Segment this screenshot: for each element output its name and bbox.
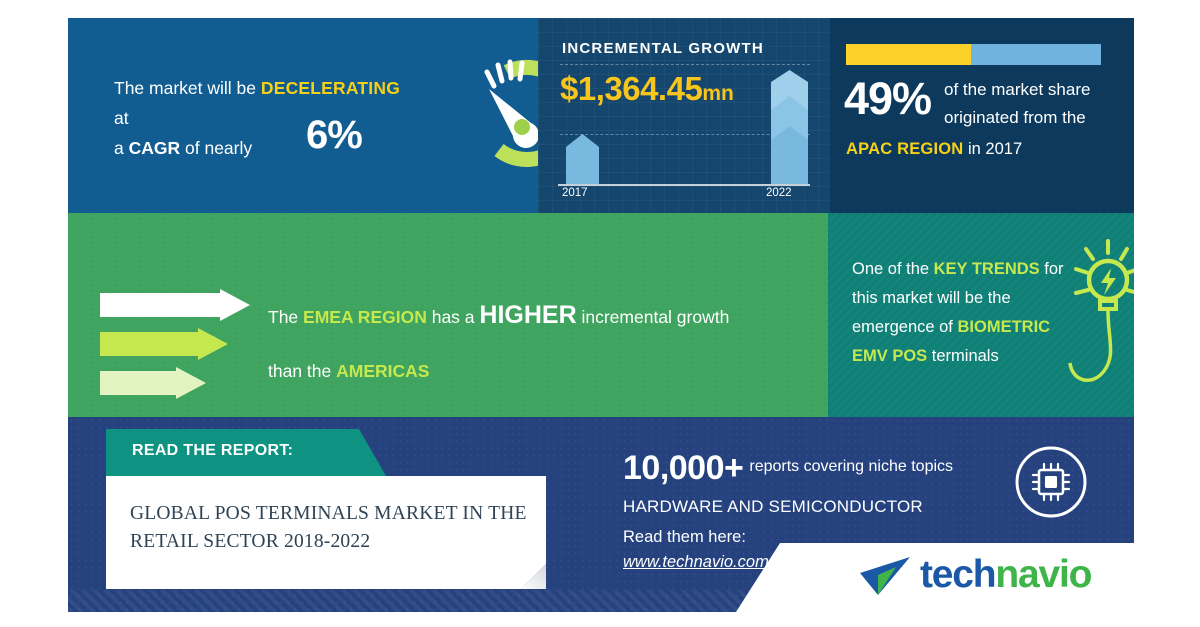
panel-cagr: The market will be DECELERATING at a CAG… [68, 18, 538, 213]
bar-2022 [771, 70, 808, 184]
emea-line2: than the AMERICAS [268, 361, 429, 382]
top-row: The market will be DECELERATING at a CAG… [68, 18, 1134, 213]
year-label-2017: 2017 [562, 187, 588, 199]
middle-row: The EMEA REGION has a HIGHER incremental… [68, 213, 1134, 417]
cagr-line2-a: a [114, 138, 129, 158]
reports-count-subtitle: reports covering niche topics [749, 458, 953, 475]
cagr-line2-c: of nearly [180, 138, 252, 158]
lightbulb-icon [1056, 235, 1134, 405]
emea-line1: The EMEA REGION has a HIGHER incremental… [268, 301, 729, 330]
cagr-statement: The market will be DECELERATING at a CAG… [114, 73, 414, 163]
technavio-url[interactable]: www.technavio.com [623, 553, 769, 572]
report-card-body: GLOBAL POS TERMINALS MARKET IN THE RETAI… [106, 476, 546, 589]
report-title: GLOBAL POS TERMINALS MARKET IN THE RETAI… [130, 500, 530, 556]
cagr-value: 6% [306, 113, 362, 158]
reports-count: 10,000+ [623, 449, 743, 487]
americas-highlight: AMERICAS [336, 361, 429, 381]
cagr-line1-b: at [114, 108, 129, 128]
panel-apac-share: 49% of the market share originated from … [830, 18, 1134, 213]
cagr-decelerating-highlight: DECELERATING [261, 78, 400, 98]
microchip-icon [1014, 445, 1088, 519]
apac-line3: APAC REGION in 2017 [846, 140, 1022, 159]
infographic-canvas: The market will be DECELERATING at a CAG… [0, 0, 1200, 627]
growth-unit: mn [702, 82, 734, 105]
growth-value: $1,364.45mn [560, 70, 734, 108]
read-the-report-label: READ THE REPORT: [132, 442, 293, 460]
growth-title: INCREMENTAL GROWTH [562, 40, 764, 57]
apac-line1: of the market share [944, 80, 1090, 100]
technavio-mark-icon [856, 555, 914, 599]
emea-l1-b: has a [427, 307, 480, 327]
apac-percent: 49% [844, 73, 931, 125]
bar-2017 [566, 134, 599, 184]
comparison-arrows-icon [100, 289, 260, 399]
report-card[interactable]: READ THE REPORT: GLOBAL POS TERMINALS MA… [106, 429, 576, 589]
logo-tech-text: tech [920, 553, 995, 596]
dashed-line-top [560, 64, 810, 65]
cagr-line1-a: The market will be [114, 78, 261, 98]
chart-axis [558, 184, 810, 186]
key-trends-text: One of the KEY TRENDS for this market wi… [852, 255, 1067, 371]
emv-pos-highlight: EMV POS [852, 347, 927, 365]
trend-l2: this market will be the [852, 289, 1011, 307]
panel-emea-growth: The EMEA REGION has a HIGHER incremental… [68, 213, 828, 417]
key-trends-highlight: KEY TRENDS [934, 260, 1040, 278]
trend-l3-a: emergence of [852, 318, 957, 336]
trend-l4-b: terminals [927, 347, 999, 365]
panel-key-trends: One of the KEY TRENDS for this market wi… [828, 213, 1134, 417]
read-here-label: Read them here: [623, 528, 746, 547]
report-category: HARDWARE AND SEMICONDUCTOR [623, 497, 923, 517]
emea-l1-c: incremental growth [577, 307, 730, 327]
footer-row: READ THE REPORT: GLOBAL POS TERMINALS MA… [68, 417, 1134, 612]
cagr-label: CAGR [129, 138, 181, 158]
biometric-highlight: BIOMETRIC [957, 318, 1050, 336]
technavio-wordmark: technavio [920, 553, 1091, 599]
apac-region-highlight: APAC REGION [846, 140, 963, 158]
growth-amount: $1,364.45 [560, 70, 702, 107]
logo-navio-text: navio [995, 553, 1091, 596]
emea-l2-a: than the [268, 361, 336, 381]
year-label-2022: 2022 [766, 187, 792, 199]
emea-region-highlight: EMEA REGION [303, 307, 427, 327]
reports-count-line: 10,000+reports covering niche topics [623, 449, 953, 488]
market-share-bar-fill [846, 44, 971, 65]
trend-l1-a: One of the [852, 260, 934, 278]
panel-incremental-growth: INCREMENTAL GROWTH $1,364.45mn 2017 2022 [538, 18, 830, 213]
read-the-report-banner: READ THE REPORT: [106, 429, 386, 476]
infographic-body: The market will be DECELERATING at a CAG… [68, 18, 1134, 612]
apac-line2: originated from the [944, 108, 1086, 128]
emea-l1-a: The [268, 307, 303, 327]
emea-higher-emphasis: HIGHER [479, 301, 576, 329]
market-share-bar [846, 44, 1101, 65]
apac-year: in 2017 [963, 140, 1022, 158]
